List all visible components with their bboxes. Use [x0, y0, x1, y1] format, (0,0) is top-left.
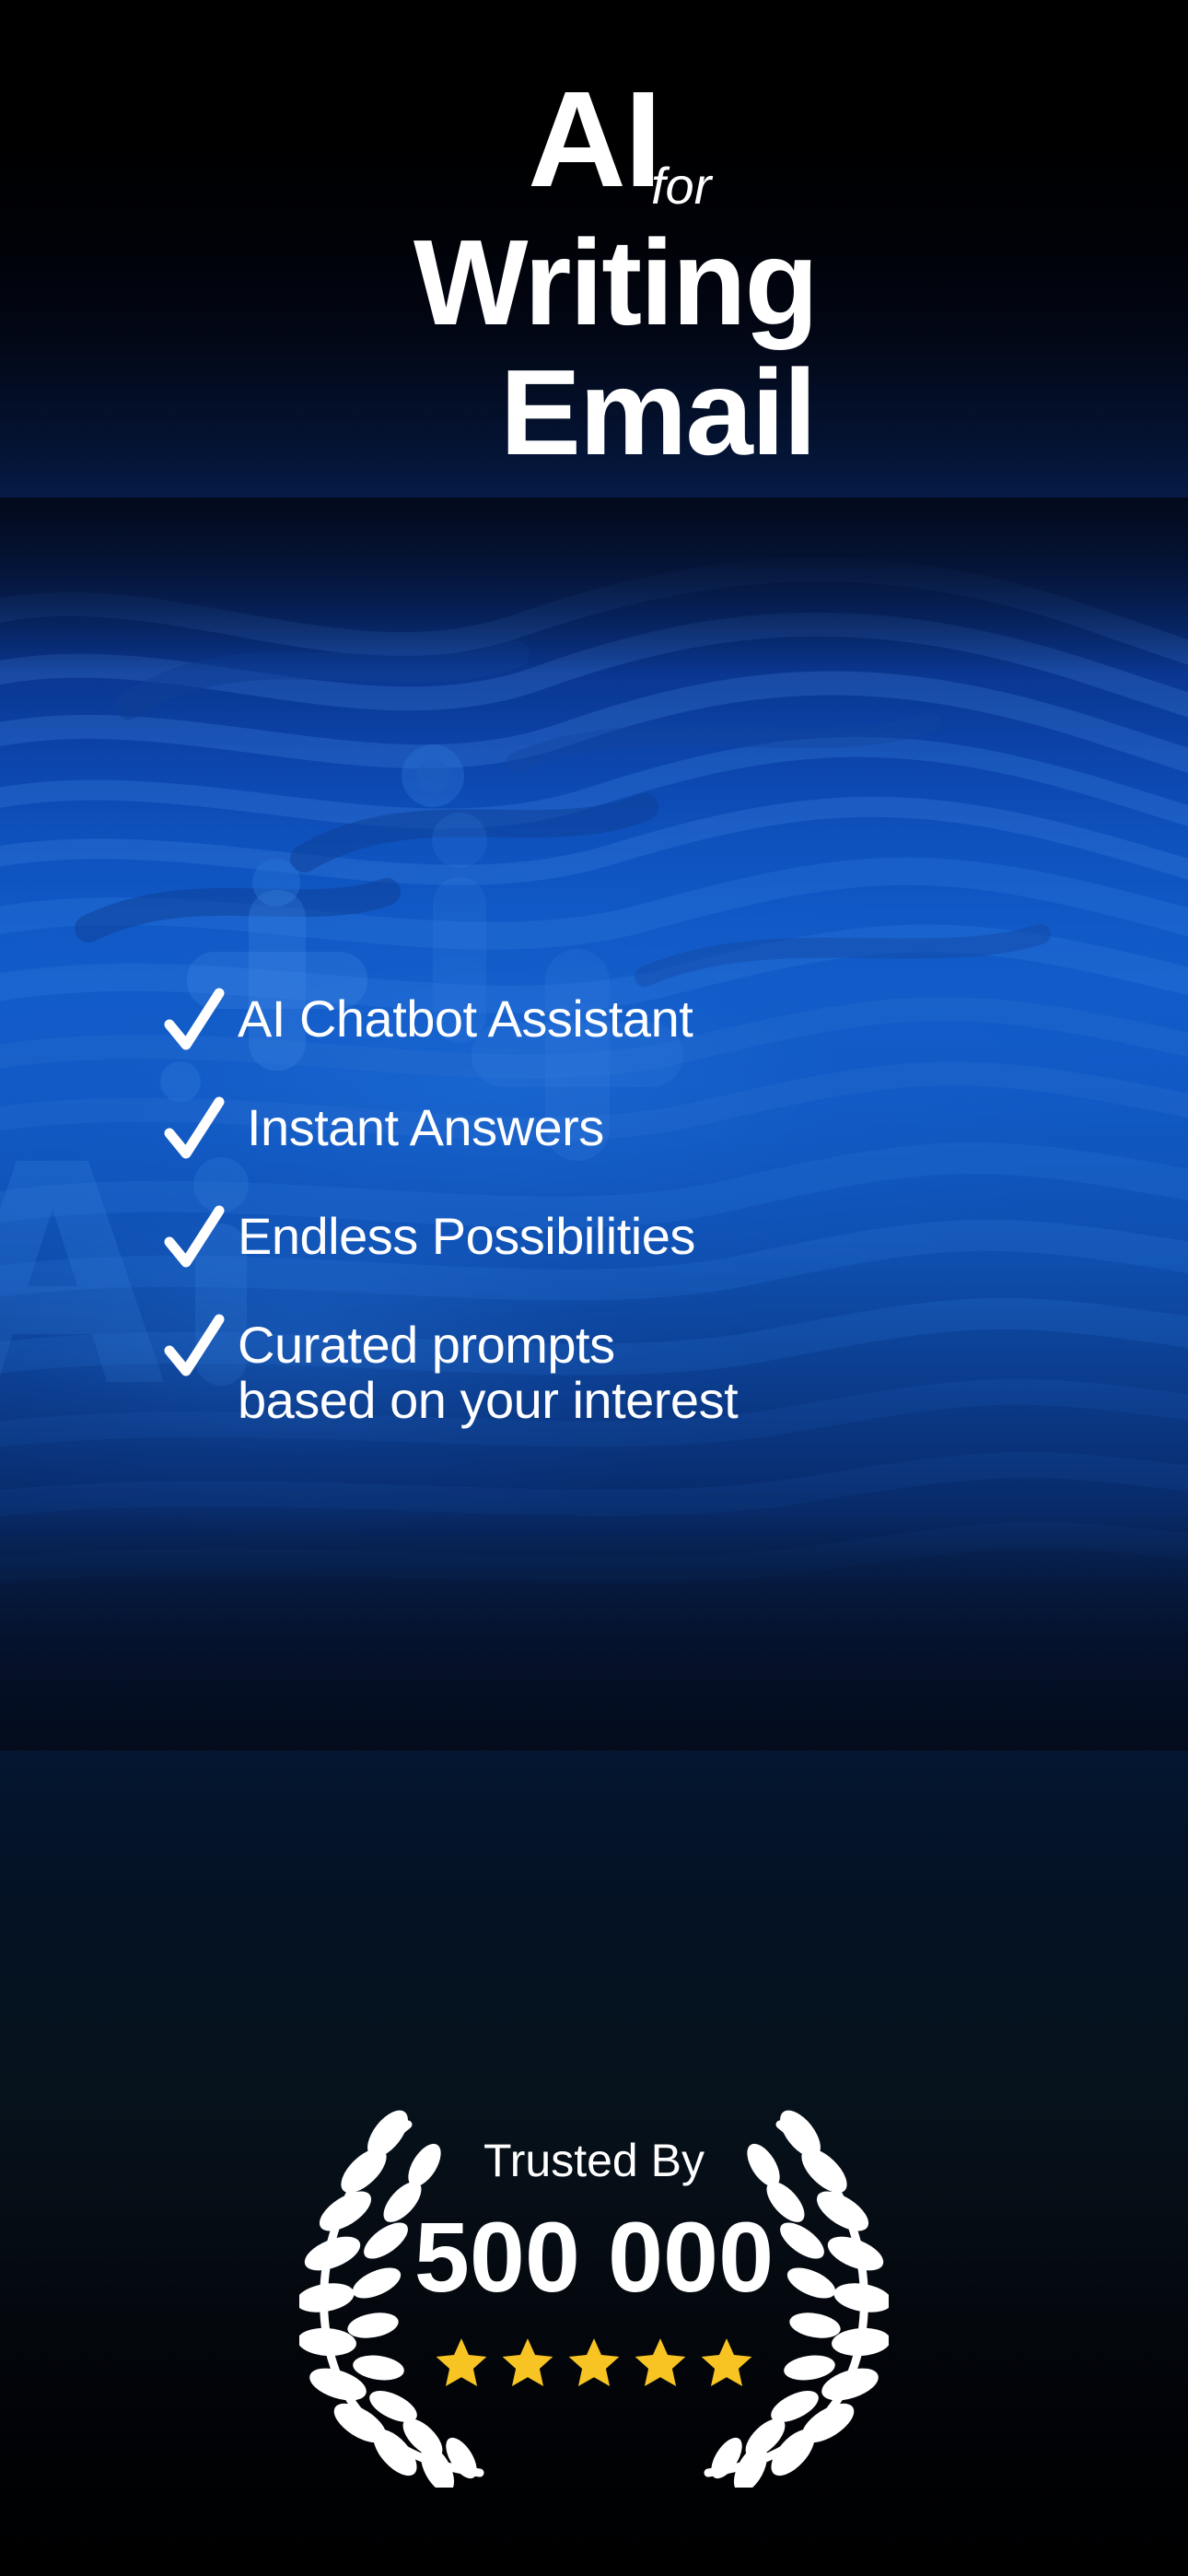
- star-rating: [0, 2335, 1188, 2392]
- feature-list: AI Chatbot Assistant Instant Answers End…: [0, 988, 1188, 1429]
- star-icon: [632, 2335, 689, 2392]
- headline-writing: Writing: [0, 221, 1188, 345]
- check-icon: [164, 1314, 225, 1382]
- list-item-label: AI Chatbot Assistant: [238, 988, 693, 1047]
- star-icon: [433, 2335, 490, 2392]
- check-icon: [164, 1205, 225, 1273]
- list-item: Curated prompts based on your interest: [164, 1314, 1188, 1429]
- headline-block: AI for Writing Email: [0, 0, 1188, 474]
- star-icon: [499, 2335, 556, 2392]
- headline-row-ai: AI for: [0, 72, 1188, 182]
- check-icon: [164, 1096, 225, 1165]
- headline-email: Email: [0, 351, 1188, 475]
- check-icon: [164, 988, 225, 1056]
- trusted-count: 500 000: [0, 2207, 1188, 2307]
- list-item-label: Curated prompts based on your interest: [238, 1314, 738, 1429]
- trusted-badge: Trusted By 500 000: [0, 2101, 1188, 2506]
- list-item: Instant Answers: [164, 1096, 1188, 1165]
- list-item-label: Endless Possibilities: [238, 1205, 695, 1264]
- list-item-label: Instant Answers: [238, 1096, 604, 1155]
- list-item: AI Chatbot Assistant: [164, 988, 1188, 1056]
- star-icon: [565, 2335, 623, 2392]
- promo-poster: AI for Writing Email AI Chatbot Assistan…: [0, 0, 1188, 2576]
- list-item: Endless Possibilities: [164, 1205, 1188, 1273]
- star-icon: [698, 2335, 755, 2392]
- badge-content: Trusted By 500 000: [0, 2101, 1188, 2392]
- headline-for: for: [651, 160, 711, 212]
- headline-ai: AI: [528, 72, 660, 208]
- trusted-by-label: Trusted By: [0, 2137, 1188, 2184]
